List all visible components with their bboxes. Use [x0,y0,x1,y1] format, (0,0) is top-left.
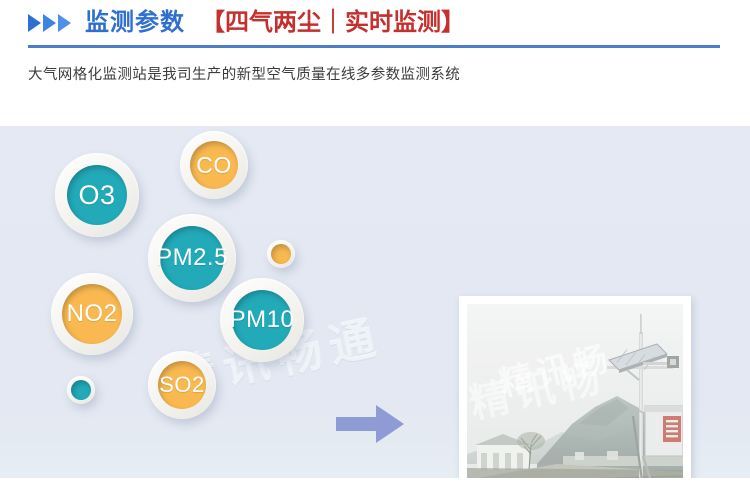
header-title-row: 监测参数 【四气两尘｜实时监测】 [28,8,465,38]
bubble-no2: NO2 [51,273,133,355]
bubble-co: CO [180,131,248,199]
triangle-arrows-group [28,14,71,32]
bubble-core: O3 [67,165,127,225]
bubble-core: CO [190,141,238,189]
bubble-label: NO2 [67,300,118,328]
header-divider [28,45,720,48]
bubble-core: PM10 [232,290,292,350]
right-arrow-icon [336,402,404,446]
bubble-pm2-5: PM2.5 [148,214,236,302]
bubble-core [271,244,291,264]
bubble-dot [267,240,295,268]
bubble-label: SO2 [159,372,205,398]
bubble-o3: O3 [55,153,139,237]
bubble-label: PM2.5 [156,244,228,272]
bubble-label: CO [196,152,232,179]
diagram-panel: 精讯畅通 O3COPM2.5NO2PM10SO2 精讯畅 [0,126,750,478]
bubble-so2: SO2 [148,351,216,419]
section-header: 监测参数 【四气两尘｜实时监测】 [0,0,750,56]
page-subtitle-bracket: 【四气两尘｜实时监测】 [201,8,465,38]
bubble-core [71,380,91,400]
bubble-dot [67,376,95,404]
bubble-core: SO2 [158,361,206,409]
triangle-right-icon [43,14,56,32]
triangle-right-icon [28,14,41,32]
triangle-right-icon [58,14,71,32]
bubble-label: PM10 [230,306,295,334]
bubble-label: O3 [78,180,115,211]
intro-paragraph: 大气网格化监测站是我司生产的新型空气质量在线多参数监测系统 [28,60,668,90]
bubble-pm10: PM10 [220,278,304,362]
bubble-core: PM2.5 [160,226,224,290]
page-title: 监测参数 [85,8,185,38]
bubble-core: NO2 [62,284,122,344]
